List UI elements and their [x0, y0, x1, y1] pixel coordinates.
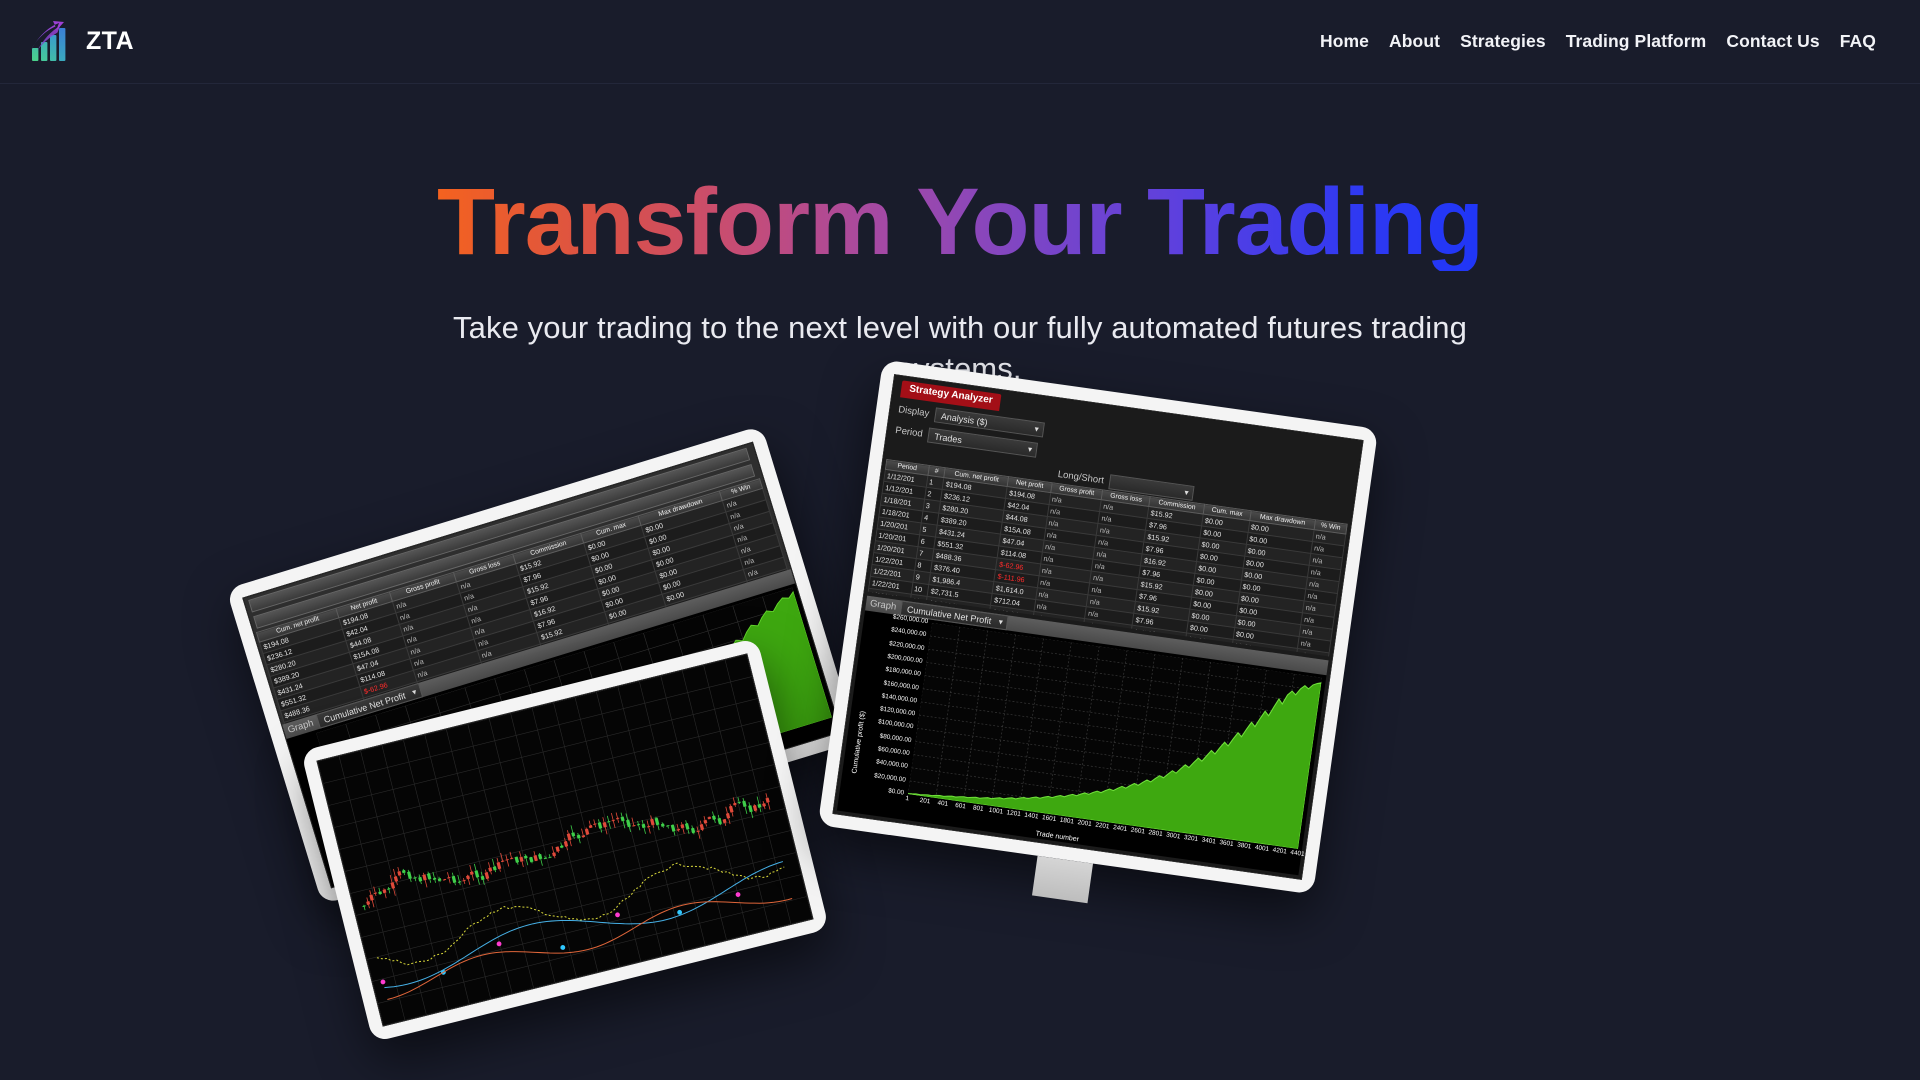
x-axis-tick: 1601: [1042, 814, 1057, 823]
brand-name: ZTA: [86, 27, 134, 56]
bar-chart-growth-icon: [26, 19, 72, 65]
nav-item-contact-us[interactable]: Contact Us: [1716, 25, 1829, 58]
nav-item-trading-platform[interactable]: Trading Platform: [1556, 25, 1717, 58]
x-axis-tick: 1401: [1024, 812, 1039, 821]
monitor-right: Strategy Analyzer Display Analysis ($) P…: [818, 359, 1379, 894]
x-axis-tick: 2201: [1095, 822, 1110, 831]
y-axis-tick: $20,000.00: [874, 772, 907, 783]
x-axis-tick: 1001: [988, 807, 1003, 816]
y-axis-tick: $0.00: [888, 787, 905, 796]
y-axis-tick: $80,000.00: [879, 732, 912, 743]
x-axis-tick: 1201: [1006, 809, 1021, 818]
x-axis-tick: 601: [955, 802, 967, 810]
x-axis-tick: 3401: [1201, 837, 1216, 846]
x-axis-tick: 2801: [1148, 829, 1163, 838]
x-axis-tick: 4401: [1290, 849, 1305, 858]
x-axis-tick: 3801: [1237, 842, 1252, 851]
y-axis-tick: $40,000.00: [876, 759, 909, 770]
brand-logo[interactable]: ZTA: [26, 19, 134, 65]
x-axis-tick: 3201: [1183, 834, 1198, 843]
y-axis-tick: $140,000.00: [881, 692, 917, 704]
x-axis-tick: 201: [919, 797, 931, 805]
x-axis-tick: 3001: [1166, 832, 1181, 841]
nav-item-home[interactable]: Home: [1310, 25, 1379, 58]
y-axis-tick: $240,000.00: [891, 627, 927, 639]
site-header: ZTA Home About Strategies Trading Platfo…: [0, 0, 1920, 84]
y-axis-tick: $220,000.00: [889, 640, 925, 652]
x-axis-tick: 2601: [1130, 827, 1145, 836]
x-axis-tick: 2001: [1077, 819, 1092, 828]
strategy-analyzer-app-right: Strategy Analyzer Display Analysis ($) P…: [834, 375, 1363, 878]
x-axis-tick: 1: [905, 795, 910, 802]
y-axis-tick: $200,000.00: [887, 653, 923, 665]
monitor-stand: [1032, 856, 1093, 903]
x-axis-tick: 4201: [1272, 847, 1287, 856]
graph-label-right: Graph: [869, 598, 897, 613]
x-axis-tick: 1801: [1059, 817, 1074, 826]
period-label: Period: [895, 424, 924, 439]
monitor-right-bezel: Strategy Analyzer Display Analysis ($) P…: [818, 359, 1379, 894]
x-axis-tick: 3601: [1219, 839, 1234, 848]
nav-item-about[interactable]: About: [1379, 25, 1450, 58]
y-axis-tick: $160,000.00: [883, 679, 919, 691]
nav-item-faq[interactable]: FAQ: [1830, 25, 1886, 58]
x-axis-tick: 2401: [1113, 824, 1128, 833]
main-navigation: Home About Strategies Trading Platform C…: [1310, 25, 1894, 58]
y-axis-tick: $100,000.00: [878, 719, 914, 731]
x-axis-tick: 4001: [1254, 844, 1269, 853]
x-axis-tick: 801: [972, 804, 984, 812]
y-axis-tick: $120,000.00: [879, 706, 915, 718]
display-label: Display: [898, 404, 930, 419]
y-axis-tick: $180,000.00: [885, 666, 921, 678]
y-axis-tick: $60,000.00: [877, 746, 910, 757]
monitor-right-screen: Strategy Analyzer Display Analysis ($) P…: [832, 374, 1363, 880]
page-root: ZTA Home About Strategies Trading Platfo…: [0, 0, 1920, 1080]
device-showcase: Cum. net profit Net profit Gross profit …: [0, 0, 1920, 1080]
x-axis-tick: 401: [937, 799, 949, 807]
nav-item-strategies[interactable]: Strategies: [1450, 25, 1556, 58]
